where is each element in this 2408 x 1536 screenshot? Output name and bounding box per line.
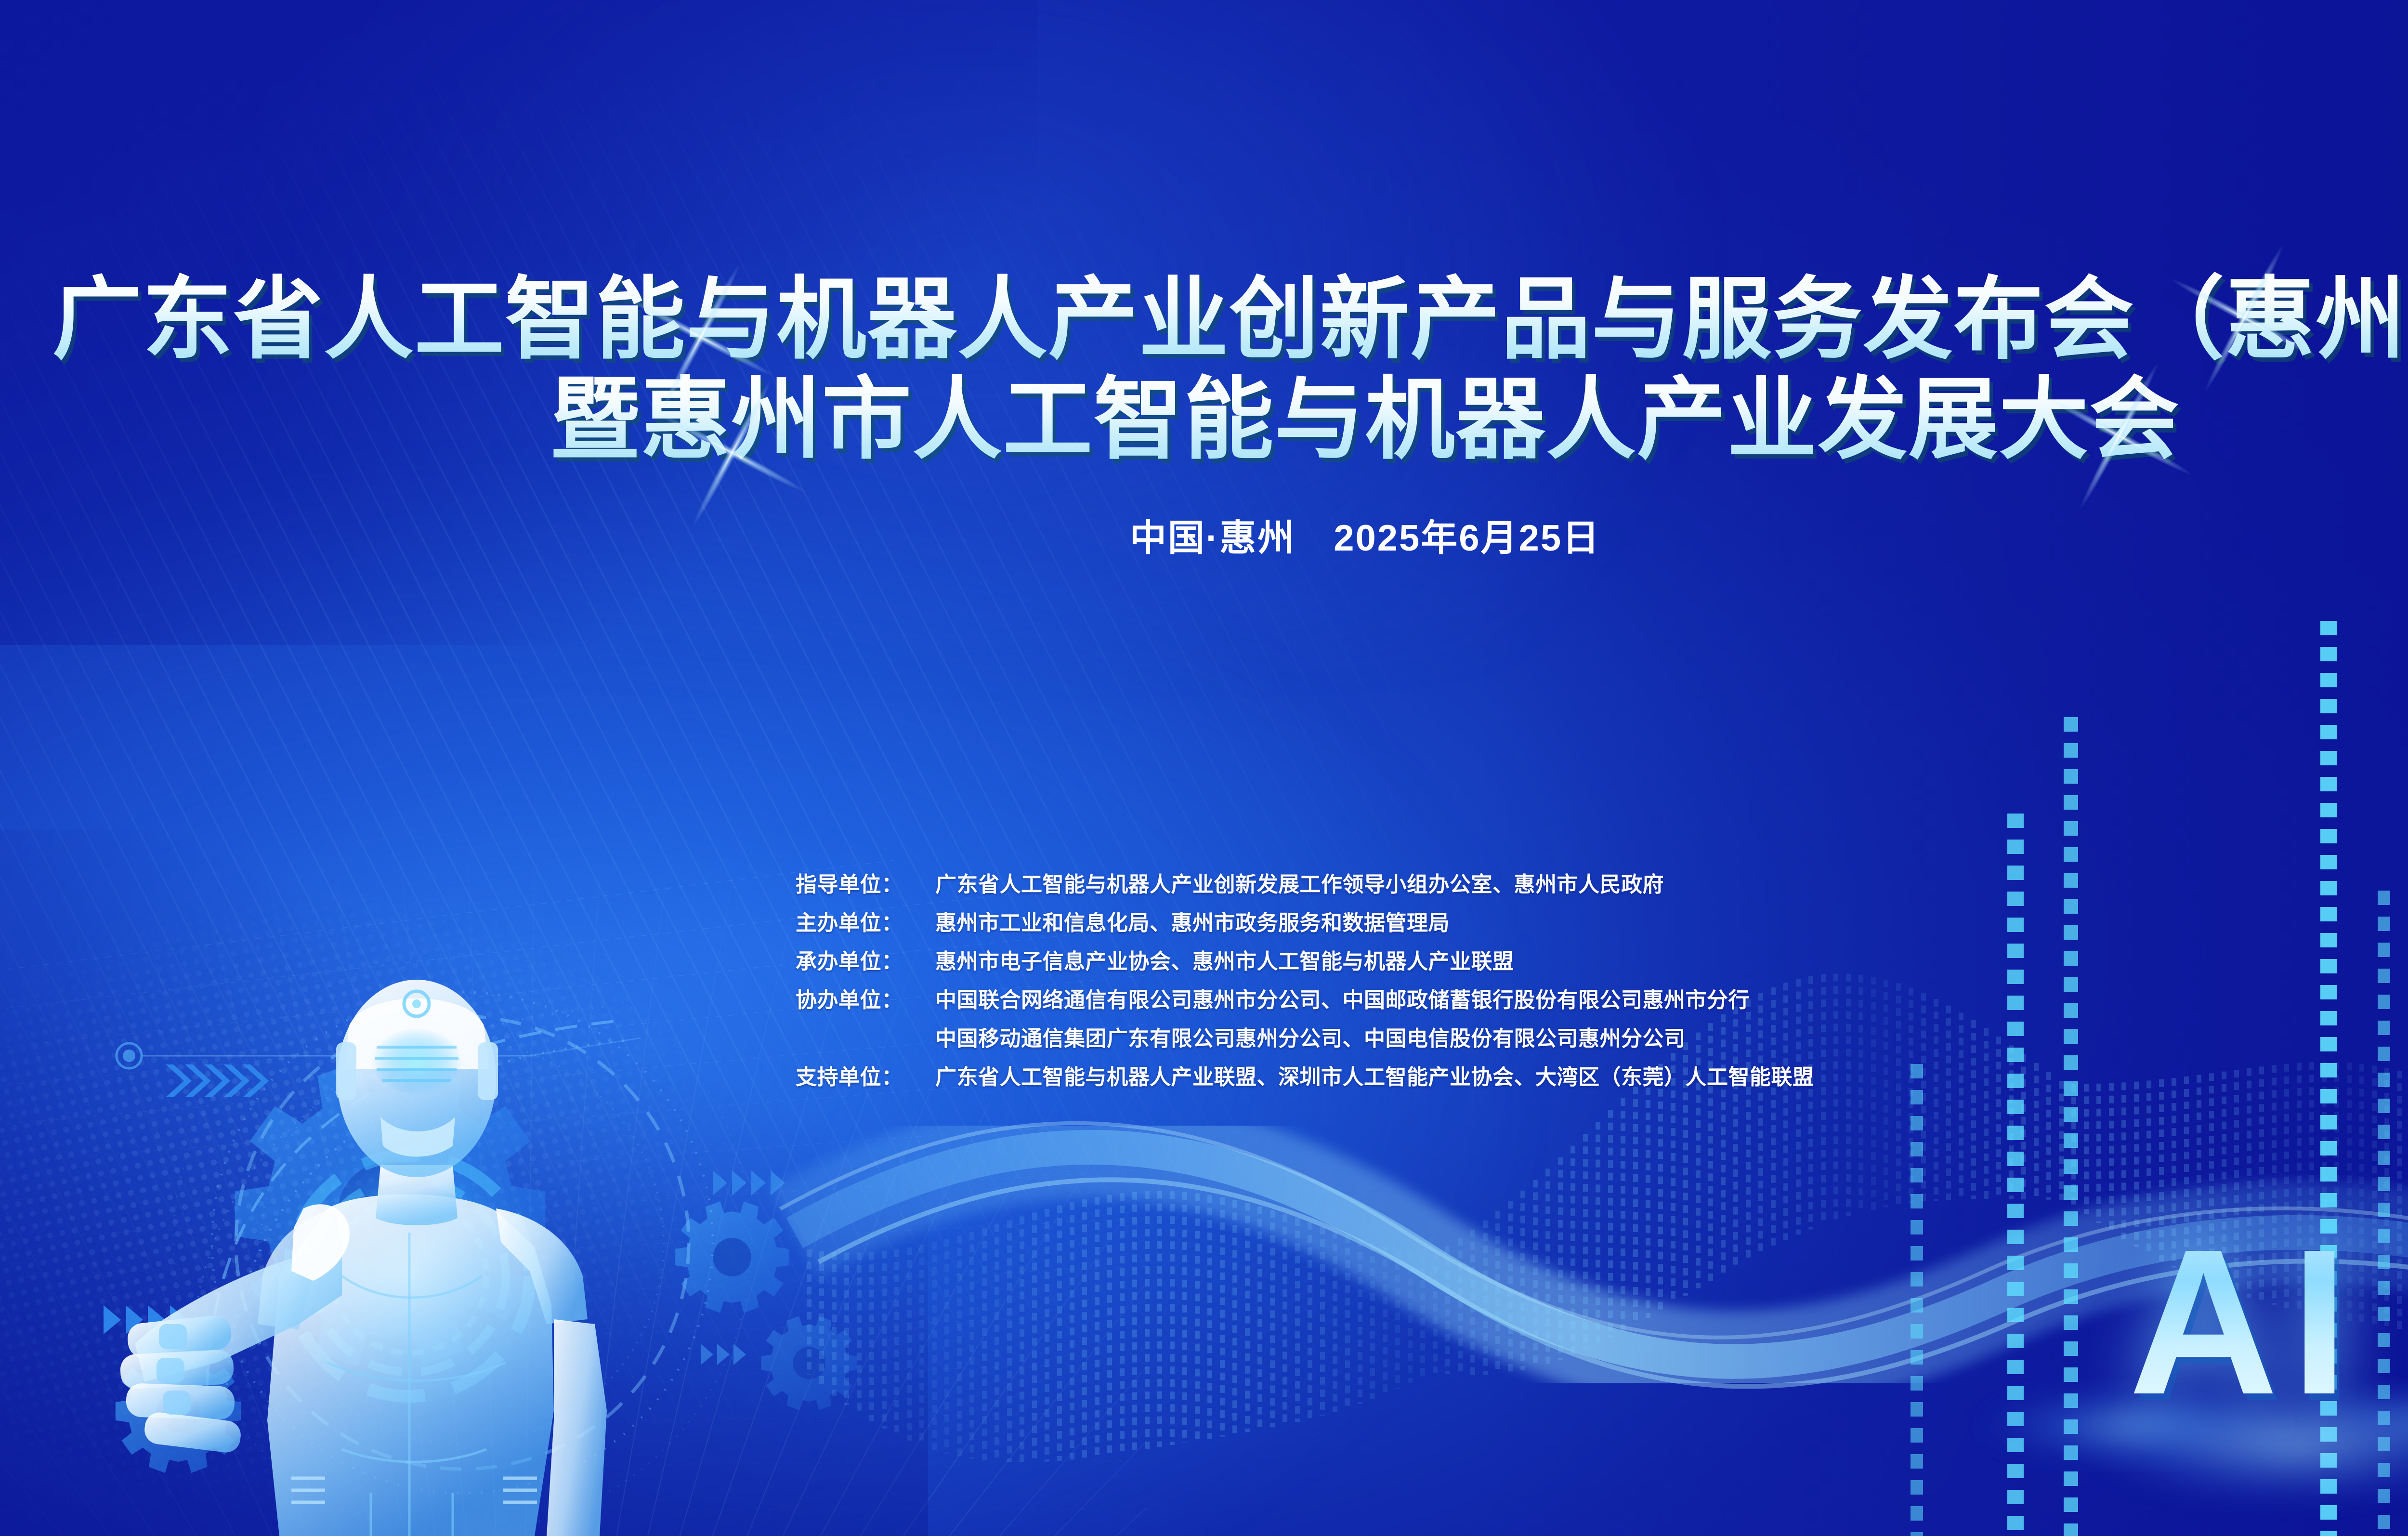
page-title-line-1: 广东省人工智能与机器人产业创新产品与服务发布会（惠州专场） xyxy=(0,270,2408,370)
poster-canvas: AI 广东省人工智能与机器人产业创新产品与服务发布会（惠州专场） 暨惠州市人工智… xyxy=(0,0,2408,1536)
organization-label: 指导单位： xyxy=(796,867,935,898)
organization-value: 惠州市工业和信息化局、惠州市政务服务和数据管理局 xyxy=(935,906,1450,936)
organization-row: 主办单位：惠州市工业和信息化局、惠州市政务服务和数据管理局 xyxy=(796,906,2408,936)
organization-row: 协办单位：中国联合网络通信有限公司惠州市分公司、中国邮政储蓄银行股份有限公司惠州… xyxy=(796,983,2408,1013)
page-title-line-2: 暨惠州市人工智能与机器人产业发展大会 xyxy=(0,370,2408,470)
event-location-date: 中国·惠州 2025年6月25日 xyxy=(0,508,2408,561)
hero-text-block: 广东省人工智能与机器人产业创新产品与服务发布会（惠州专场） 暨惠州市人工智能与机… xyxy=(0,270,2408,561)
organization-row: 指导单位：广东省人工智能与机器人产业创新发展工作领导小组办公室、惠州市人民政府 xyxy=(796,867,2408,898)
organization-label: 主办单位： xyxy=(796,906,935,936)
organization-label: 协办单位： xyxy=(796,983,935,1013)
organization-value: 中国联合网络通信有限公司惠州市分公司、中国邮政储蓄银行股份有限公司惠州市分行 xyxy=(935,983,1750,1013)
organization-label: 承办单位： xyxy=(796,944,935,975)
organization-row: 支持单位：广东省人工智能与机器人产业联盟、深圳市人工智能产业协会、大湾区（东莞）… xyxy=(796,1060,2408,1090)
organization-list: 指导单位：广东省人工智能与机器人产业创新发展工作领导小组办公室、惠州市人民政府主… xyxy=(796,867,2408,1098)
ai-wordmark: AI xyxy=(2129,1219,2361,1426)
robot-arm-right xyxy=(547,1319,607,1536)
organization-label: 支持单位： xyxy=(796,1060,935,1090)
organization-value: 广东省人工智能与机器人产业联盟、深圳市人工智能产业协会、大湾区（东莞）人工智能联… xyxy=(935,1060,1814,1090)
organization-value: 中国移动通信集团广东有限公司惠州分公司、中国电信股份有限公司惠州分公司 xyxy=(935,1021,1686,1052)
organization-row: 承办单位：惠州市电子信息产业协会、惠州市人工智能与机器人产业联盟 xyxy=(796,944,2408,975)
organization-value: 惠州市电子信息产业协会、惠州市人工智能与机器人产业联盟 xyxy=(935,944,1514,975)
organization-value: 广东省人工智能与机器人产业创新发展工作领导小组办公室、惠州市人民政府 xyxy=(935,867,1664,898)
organization-row: 协办单位：中国移动通信集团广东有限公司惠州分公司、中国电信股份有限公司惠州分公司 xyxy=(796,1021,2408,1052)
humanoid-robot xyxy=(72,939,718,1536)
